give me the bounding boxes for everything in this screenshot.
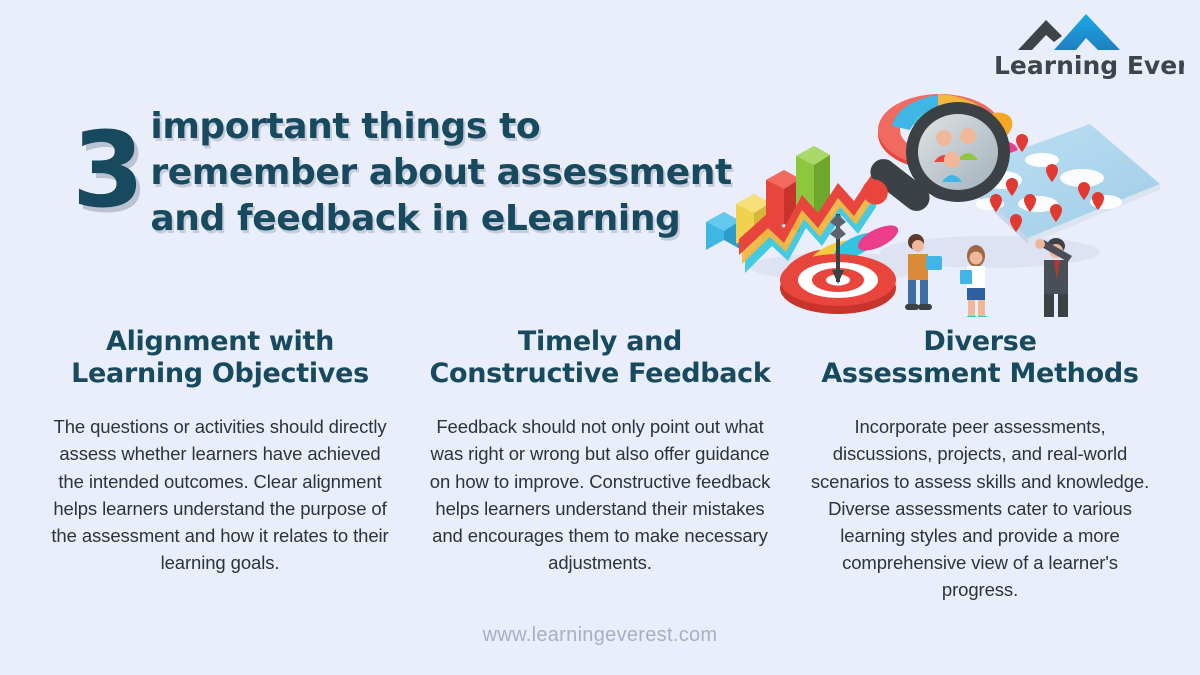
column-heading-line-1: Alignment with bbox=[40, 326, 400, 358]
column-methods: Diverse Assessment Methods Incorporate p… bbox=[800, 326, 1160, 603]
column-body-text: The questions or activities should direc… bbox=[40, 413, 400, 576]
headline-line-3: and feedback in eLearning bbox=[150, 196, 731, 242]
column-heading-line-2: Constructive Feedback bbox=[420, 358, 780, 390]
column-heading: Alignment with Learning Objectives bbox=[40, 326, 400, 389]
column-heading-line-2: Learning Objectives bbox=[40, 358, 400, 390]
headline-line-1: important things to bbox=[150, 104, 731, 150]
isometric-data-analytics-illustration: 70% 8% 50% 20% bbox=[690, 52, 1170, 317]
column-feedback: Timely and Constructive Feedback Feedbac… bbox=[420, 326, 780, 603]
column-alignment: Alignment with Learning Objectives The q… bbox=[40, 326, 400, 603]
mountain-peaks-icon bbox=[1018, 14, 1120, 50]
infographic-page: Learning Everest 3 important things to r… bbox=[0, 0, 1200, 675]
headline-block: 3 important things to remember about ass… bbox=[72, 96, 732, 266]
headline-number: 3 bbox=[72, 118, 142, 222]
headline-lines: important things to remember about asses… bbox=[150, 96, 731, 242]
footer-url[interactable]: www.learningeverest.com bbox=[0, 624, 1200, 647]
column-heading-line-2: Assessment Methods bbox=[800, 358, 1160, 390]
column-body-text: Incorporate peer assessments, discussion… bbox=[800, 413, 1160, 603]
column-heading-line-1: Diverse bbox=[800, 326, 1160, 358]
column-heading-line-1: Timely and bbox=[420, 326, 780, 358]
three-column-section: Alignment with Learning Objectives The q… bbox=[40, 326, 1160, 603]
column-heading: Diverse Assessment Methods bbox=[800, 326, 1160, 389]
column-heading: Timely and Constructive Feedback bbox=[420, 326, 780, 389]
column-body-text: Feedback should not only point out what … bbox=[420, 413, 780, 576]
headline-line-2: remember about assessment bbox=[150, 150, 731, 196]
